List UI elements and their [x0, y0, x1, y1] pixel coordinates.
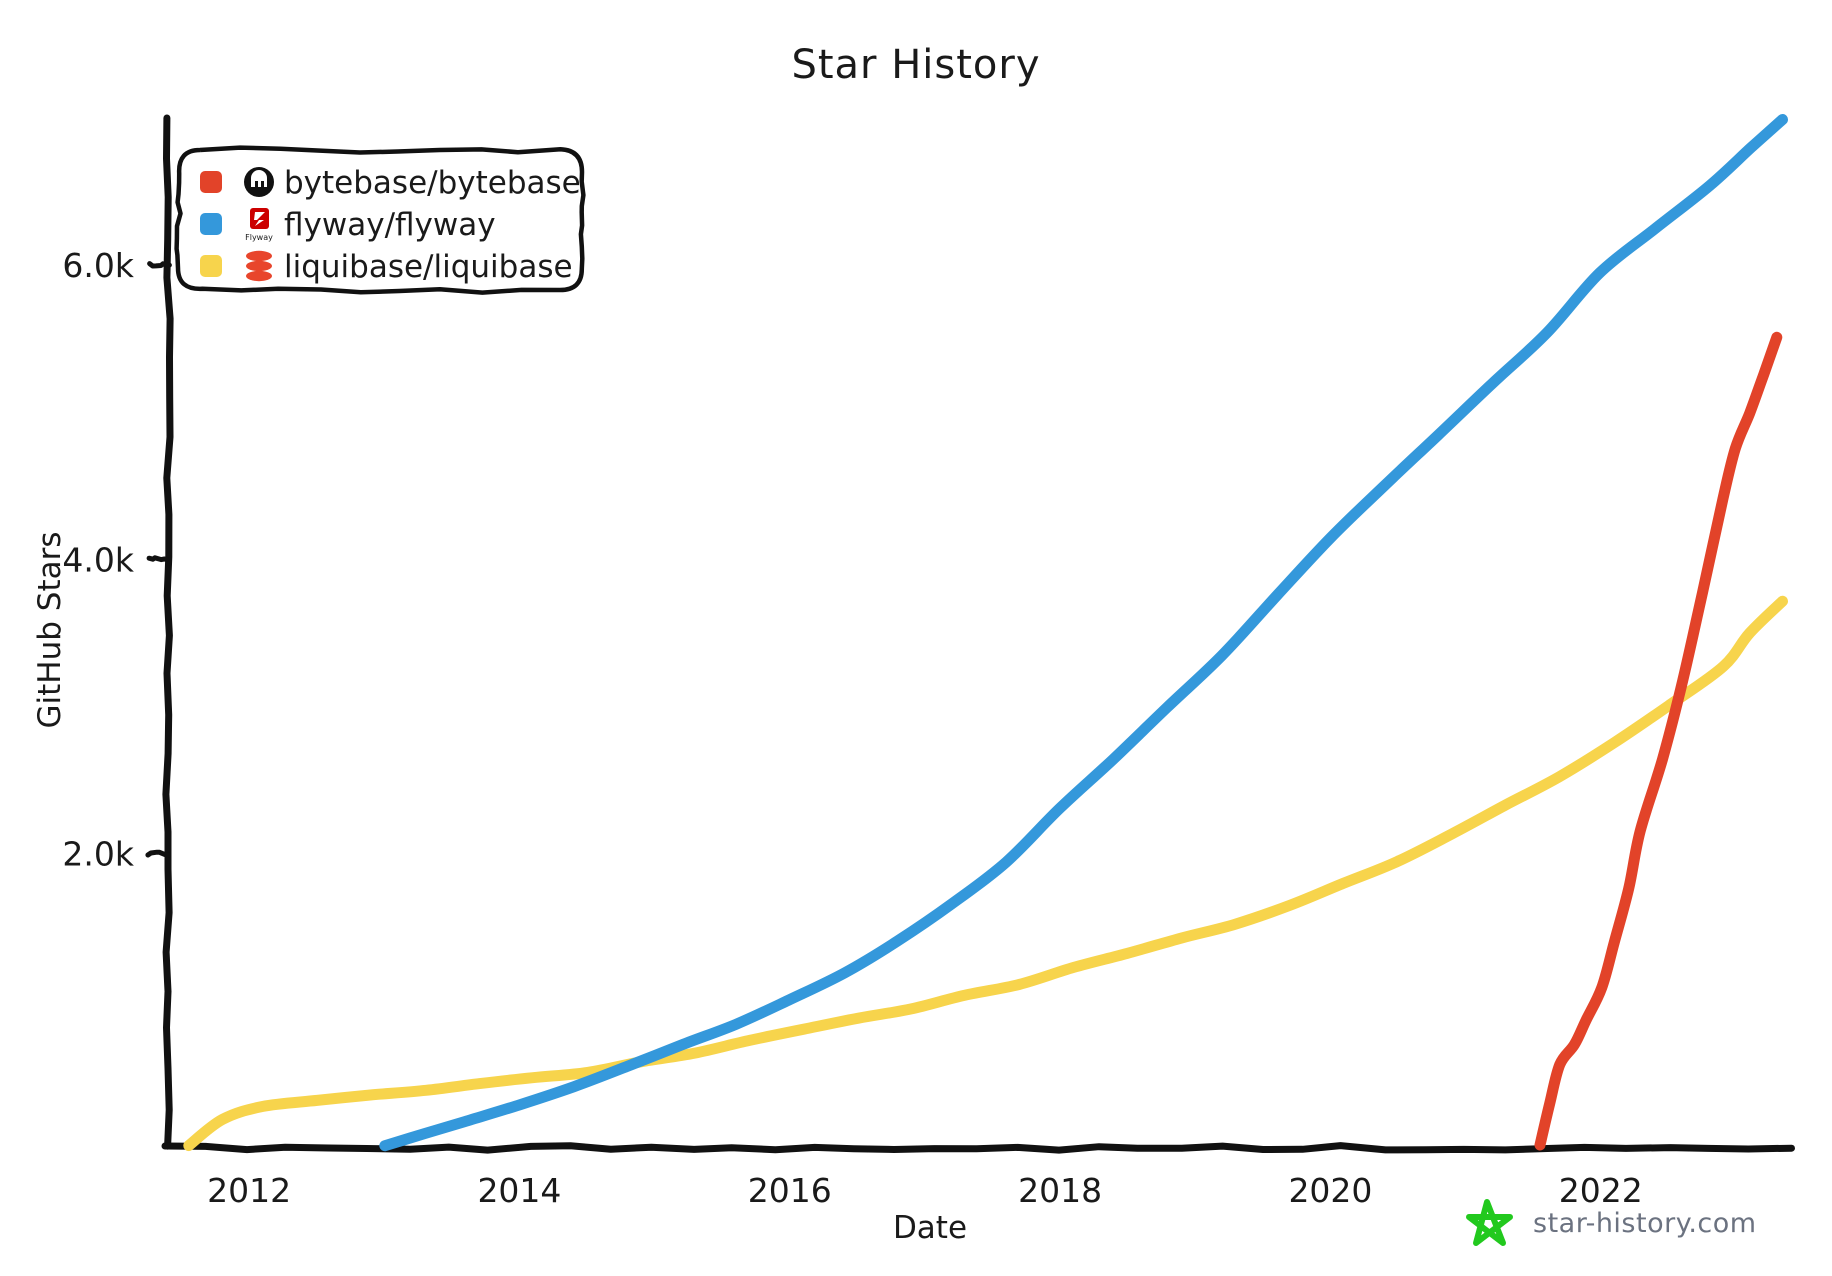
y-tick-label: 4.0k: [62, 540, 134, 579]
x-tick-label: 2012: [207, 1171, 291, 1210]
x-axis-line: [165, 1146, 1792, 1151]
svg-text:Flyway: Flyway: [245, 233, 273, 242]
legend-item[interactable]: bytebase/bytebase: [200, 165, 581, 201]
legend-color-swatch: [200, 213, 222, 235]
x-tick-label: 2016: [748, 1171, 832, 1210]
bytebase-logo-icon: [244, 167, 274, 197]
x-axis-title: Date: [893, 1210, 967, 1246]
y-tick-label: 6.0k: [62, 246, 134, 285]
legend-item[interactable]: liquibase/liquibase: [200, 249, 573, 285]
x-tick-label: 2022: [1559, 1171, 1643, 1210]
legend: bytebase/bytebaseFlywayflyway/flywayliqu…: [177, 148, 584, 293]
legend-item-label: flyway/flyway: [284, 207, 496, 243]
page-title: Star History: [791, 42, 1040, 88]
y-tick-label: 2.0k: [62, 835, 134, 874]
legend-item-label: bytebase/bytebase: [284, 165, 581, 201]
x-tick-label: 2014: [477, 1171, 561, 1210]
y-tick-mark: [149, 558, 167, 560]
x-tick-label: 2020: [1288, 1171, 1372, 1210]
liquibase-logo-icon: [246, 251, 272, 281]
y-axis-line: [166, 118, 170, 1146]
y-tick-mark: [150, 264, 170, 266]
legend-color-swatch: [200, 255, 222, 277]
x-tick-label: 2018: [1018, 1171, 1102, 1210]
legend-color-swatch: [200, 171, 222, 193]
star-history-chart: Star History 2.0k4.0k6.0k 20122014201620…: [0, 0, 1832, 1276]
watermark-label: star-history.com: [1533, 1208, 1757, 1239]
y-axis-title: GitHub Stars: [32, 531, 68, 728]
y-tick-mark: [148, 852, 169, 855]
legend-item-label: liquibase/liquibase: [284, 249, 573, 285]
